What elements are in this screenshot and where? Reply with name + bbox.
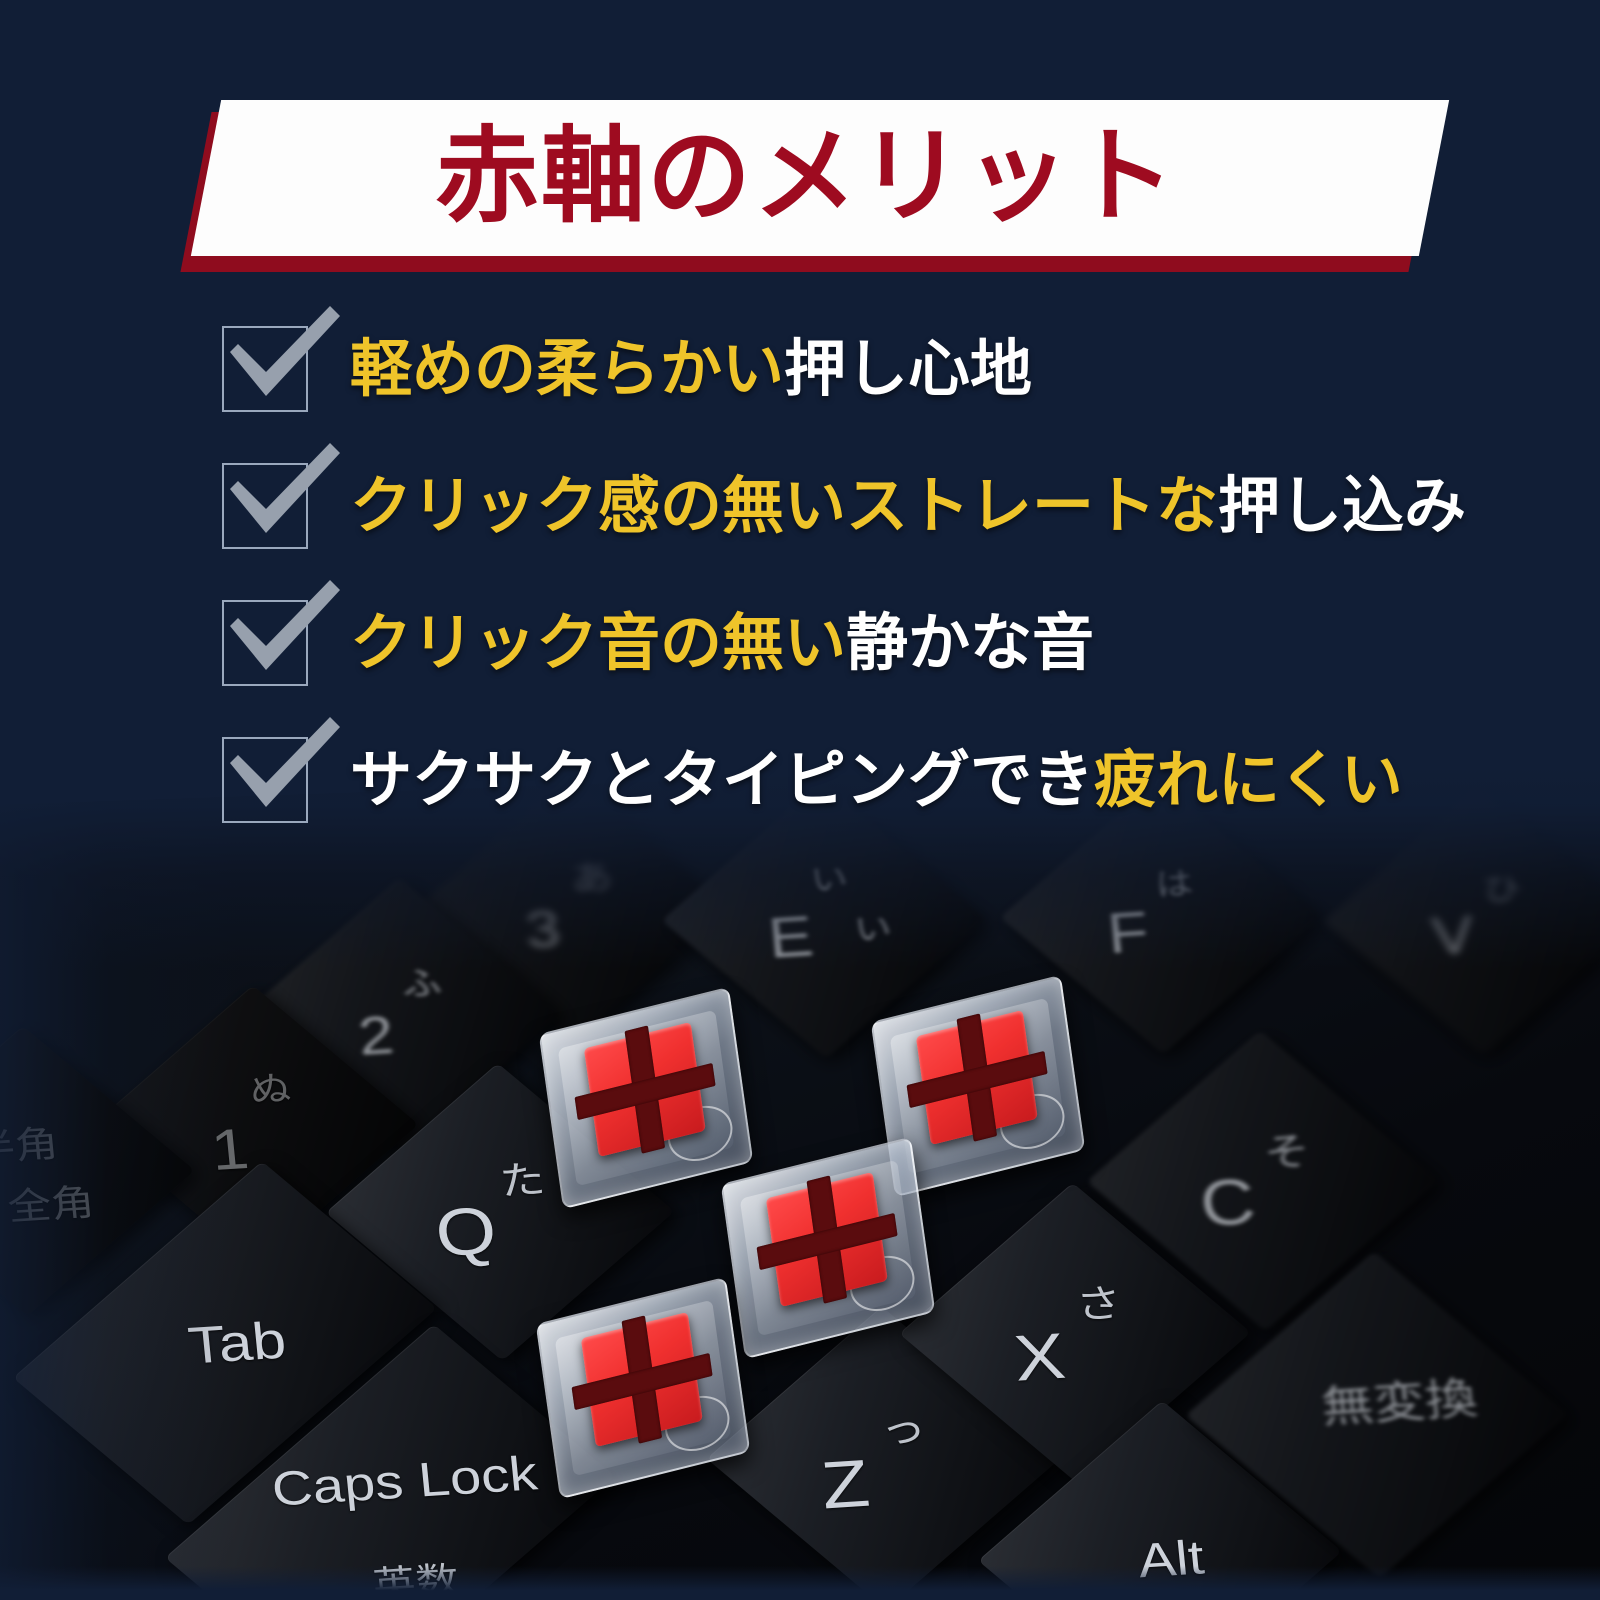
checkbox-2	[222, 463, 308, 549]
title-banner: 赤軸のメリット	[0, 0, 1600, 300]
check-icon	[218, 437, 346, 557]
keycap-label: 無変換	[1318, 1361, 1480, 1435]
list-item-highlight: クリック音の無い	[350, 606, 846, 679]
list-item-plain: 押し込み	[1218, 469, 1466, 542]
keycap-label: 2	[356, 1004, 397, 1068]
list-item-highlight: 疲れにくい	[1094, 743, 1403, 816]
photo-bottom-fade	[0, 1566, 1600, 1600]
list-item: クリック音の無い静かな音	[0, 574, 1600, 711]
keycap-sublabel: た	[497, 1148, 548, 1207]
keycap-label: X	[1011, 1319, 1069, 1396]
checkbox-4	[222, 737, 308, 823]
list-item-text: 軽めの柔らかい押し心地	[350, 336, 1032, 402]
checkbox-3	[222, 600, 308, 686]
list-item-plain: 静かな音	[846, 606, 1094, 679]
list-item: 軽めの柔らかい押し心地	[0, 300, 1600, 437]
list-item-highlight: クリック感の無いストレートな	[350, 469, 1218, 542]
poster-root: 3 あ E い い F は V ひ 2 ふ 1 ぬ 半角 全角	[0, 0, 1600, 1600]
keycap-label: Q	[432, 1193, 500, 1272]
keycap-sublabel: っ	[878, 1397, 929, 1456]
check-icon	[218, 300, 346, 420]
check-icon	[218, 711, 346, 831]
list-item-text: クリック音の無い静かな音	[350, 610, 1094, 676]
list-item: サクサクとタイピングでき疲れにくい	[0, 711, 1600, 848]
page-title: 赤軸のメリット	[0, 100, 1600, 256]
list-item-plain: サクサクとタイピングでき	[350, 743, 1094, 816]
list-item: クリック感の無いストレートな押し込み	[0, 437, 1600, 574]
list-item-text: サクサクとタイピングでき疲れにくい	[350, 747, 1403, 813]
keycap-sublabel: ぬ	[247, 1059, 293, 1112]
keyboard-photo: 3 あ E い い F は V ひ 2 ふ 1 ぬ 半角 全角	[0, 760, 1600, 1600]
keycap-label: Caps Lock	[269, 1446, 539, 1518]
list-item-highlight: 軽めの柔らかい	[350, 332, 784, 405]
check-icon	[218, 574, 346, 694]
keycap-label: Z	[818, 1446, 873, 1525]
list-item-plain: 押し心地	[784, 332, 1032, 405]
benefit-list: 軽めの柔らかい押し心地 クリック感の無いストレートな押し込み	[0, 300, 1600, 848]
list-item-text: クリック感の無いストレートな押し込み	[350, 473, 1466, 539]
checkbox-1	[222, 326, 308, 412]
keycap-sublabel: そ	[1261, 1120, 1312, 1179]
keycap-label: C	[1197, 1164, 1259, 1241]
keycap-sublabel: さ	[1073, 1272, 1124, 1331]
